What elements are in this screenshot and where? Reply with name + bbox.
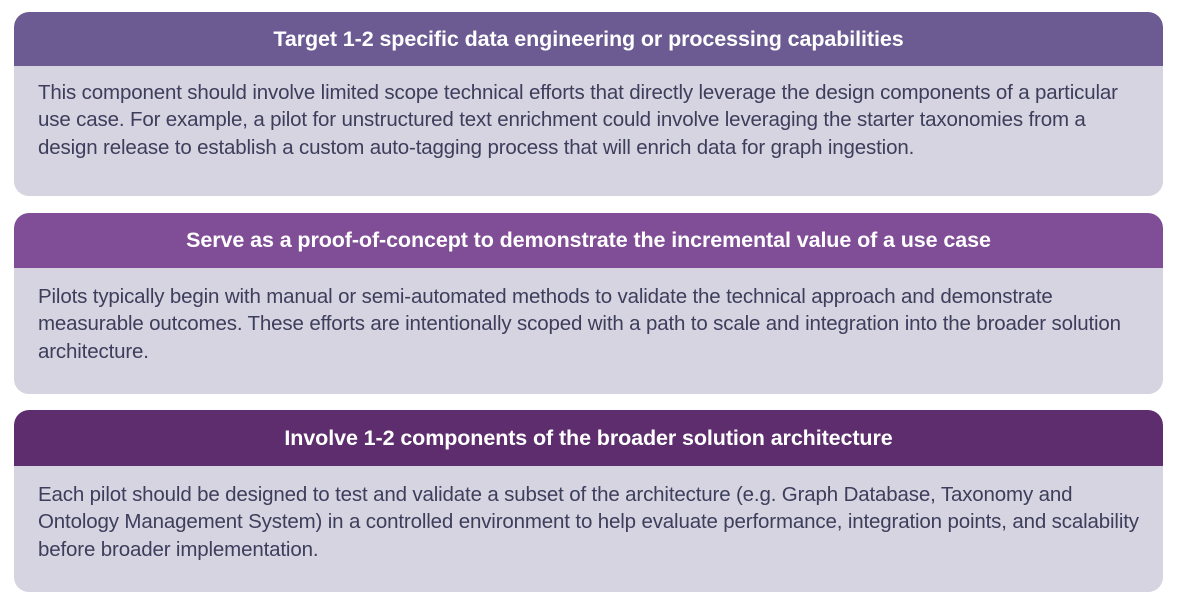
card-body-3: Each pilot should be designed to test an… (14, 466, 1163, 592)
card-body-1: This component should involve limited sc… (14, 66, 1163, 196)
card-title-3: Involve 1-2 components of the broader so… (284, 426, 892, 451)
card-title-2: Serve as a proof-of-concept to demonstra… (186, 228, 991, 253)
info-card-proof-of-concept: Serve as a proof-of-concept to demonstra… (14, 213, 1163, 394)
card-header-1: Target 1-2 specific data engineering or … (14, 12, 1163, 66)
info-card-solution-architecture: Involve 1-2 components of the broader so… (14, 410, 1163, 592)
card-description-3: Each pilot should be designed to test an… (38, 481, 1141, 563)
card-description-2: Pilots typically begin with manual or se… (38, 283, 1141, 365)
card-header-3: Involve 1-2 components of the broader so… (14, 410, 1163, 466)
card-body-2: Pilots typically begin with manual or se… (14, 268, 1163, 394)
card-title-1: Target 1-2 specific data engineering or … (273, 27, 903, 52)
card-header-2: Serve as a proof-of-concept to demonstra… (14, 213, 1163, 268)
info-card-target-capabilities: Target 1-2 specific data engineering or … (14, 12, 1163, 196)
cards-board: Target 1-2 specific data engineering or … (0, 0, 1178, 606)
card-description-1: This component should involve limited sc… (38, 79, 1141, 161)
